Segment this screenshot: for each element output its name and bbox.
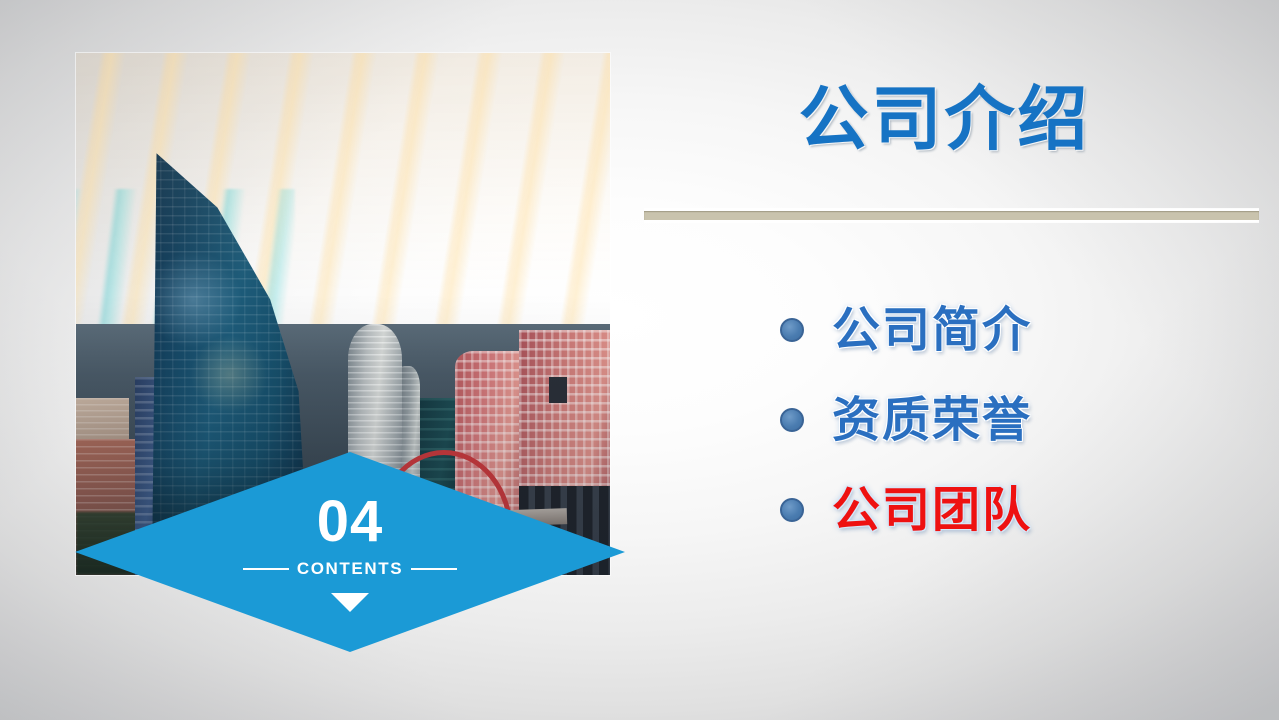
presentation-slide: 04 CONTENTS 公司介绍 公司简介 资质荣誉 公司团队 [0,0,1279,720]
agenda-item-label: 公司团队 [832,486,1032,534]
title-divider [644,209,1259,222]
agenda-item-qualifications[interactable]: 资质荣誉 [780,375,1250,465]
page-title: 公司介绍 [640,84,1249,154]
content-panel: 公司介绍 公司简介 资质荣誉 公司团队 [640,0,1279,720]
agenda-item-label: 资质荣誉 [832,396,1032,444]
agenda-list: 公司简介 资质荣誉 公司团队 [780,285,1250,555]
bullet-dot-icon [780,498,804,522]
agenda-item-team[interactable]: 公司团队 [780,465,1250,555]
bullet-dot-icon [780,408,804,432]
agenda-item-label: 公司简介 [832,306,1032,354]
building-facade-notch [549,377,567,403]
bullet-dot-icon [780,318,804,342]
agenda-item-company-profile[interactable]: 公司简介 [780,285,1250,375]
